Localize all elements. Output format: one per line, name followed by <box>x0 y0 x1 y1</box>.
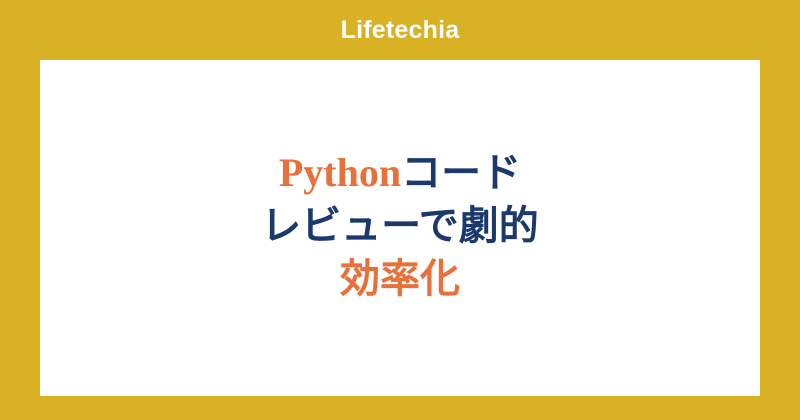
brand-band: Lifetechia <box>0 0 800 60</box>
headline-line-3: 効率化 <box>261 252 539 305</box>
headline-segment-python: Python <box>279 150 401 195</box>
brand-title: Lifetechia <box>341 18 460 43</box>
headline-line-2: レビューで劇的 <box>261 199 539 252</box>
headline-segment-efficiency: 効率化 <box>340 256 460 301</box>
slide-canvas: Lifetechia Pythonコード レビューで劇的 効率化 <box>0 0 800 420</box>
headline: Pythonコード レビューで劇的 効率化 <box>261 146 539 305</box>
content-card: Pythonコード レビューで劇的 効率化 <box>40 60 760 396</box>
headline-segment-code: コード <box>401 150 521 195</box>
headline-segment-review: レビューで劇的 <box>261 203 539 248</box>
headline-line-1: Pythonコード <box>261 146 539 199</box>
